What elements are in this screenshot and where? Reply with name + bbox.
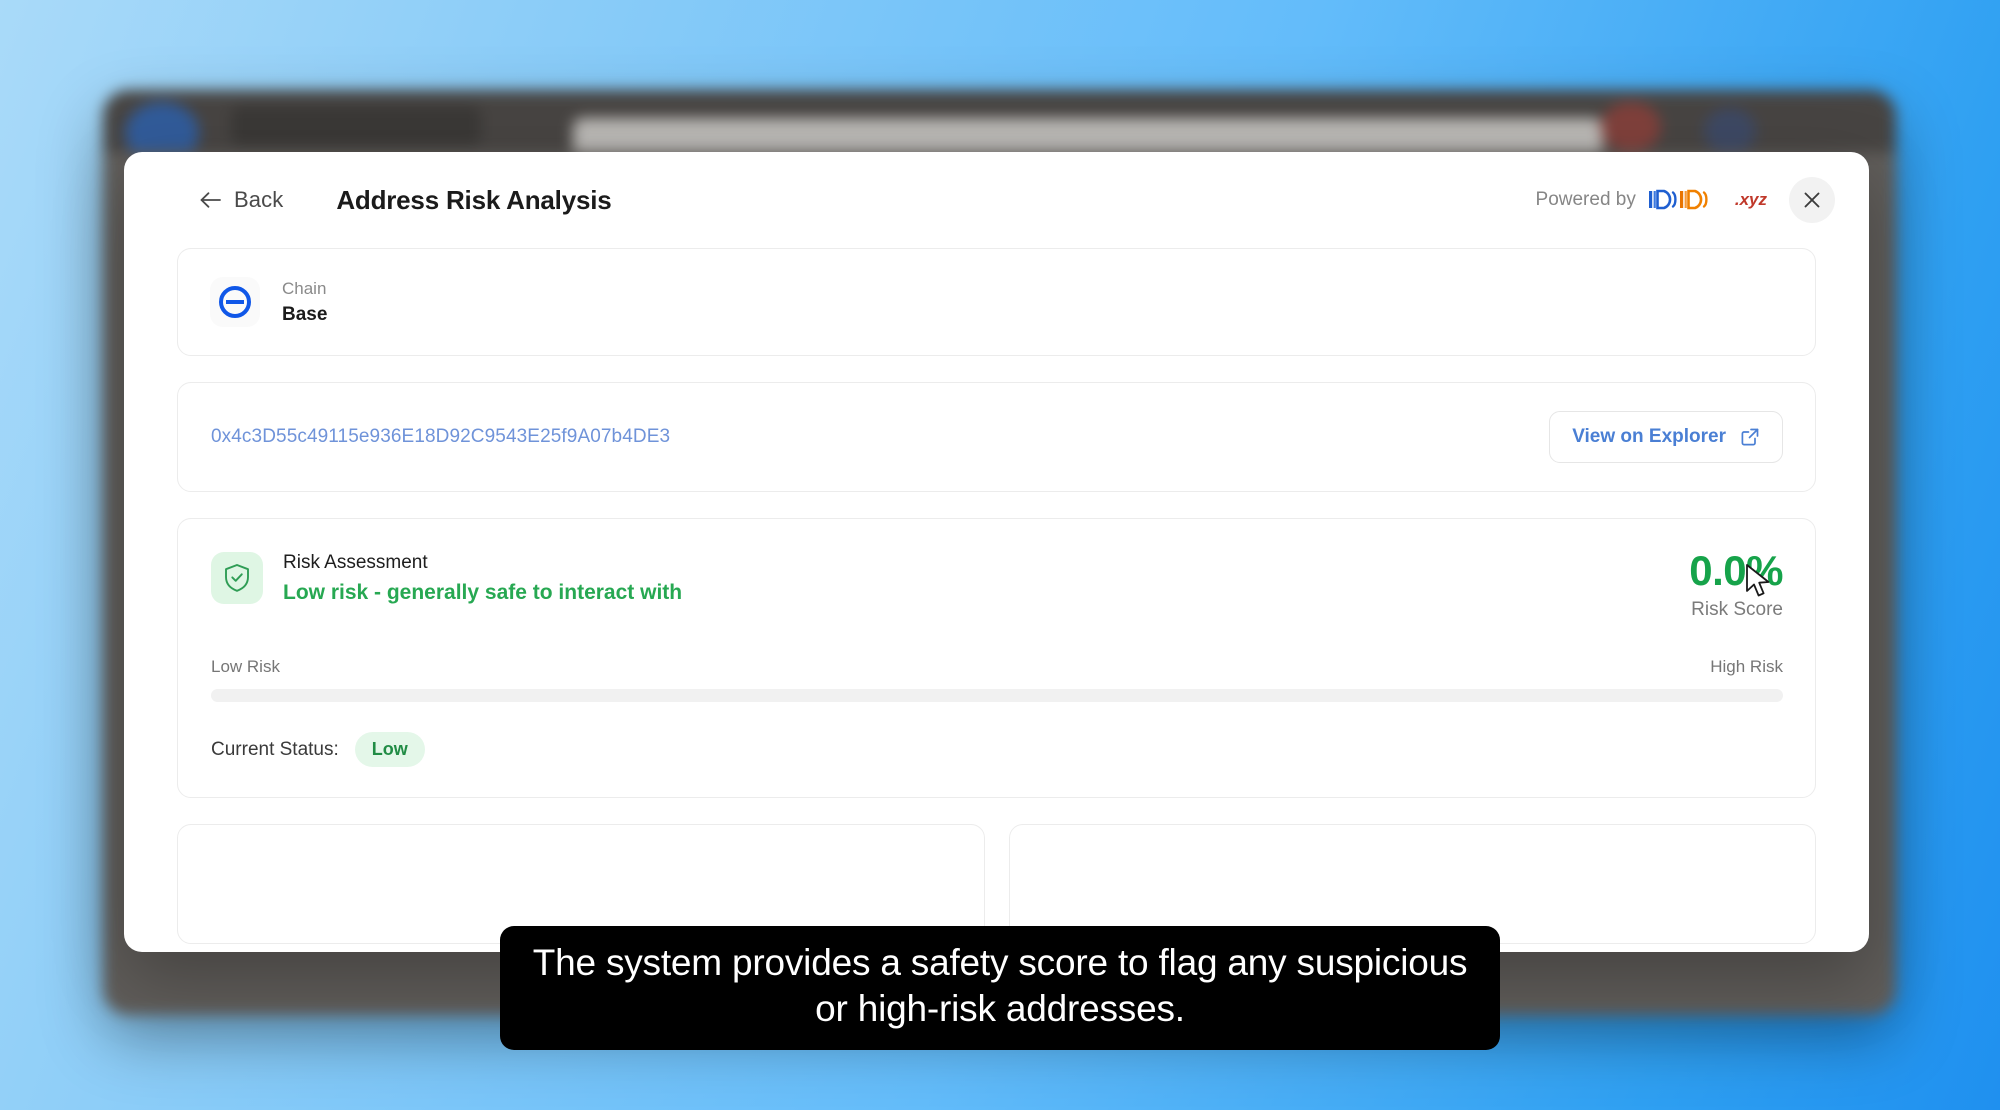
video-caption: The system provides a safety score to fl… <box>500 926 1500 1050</box>
background-notification-blob <box>1601 102 1661 152</box>
background-avatar-blob <box>1704 108 1756 154</box>
current-status-label: Current Status: <box>211 739 339 761</box>
risk-progress-bar <box>211 689 1783 702</box>
back-label: Back <box>234 187 283 213</box>
chain-info: Chain Base <box>282 277 327 327</box>
external-link-icon <box>1740 427 1760 447</box>
risk-score-value: 0.0% <box>1689 549 1783 593</box>
arrow-left-icon <box>199 190 223 210</box>
close-button[interactable] <box>1789 177 1835 223</box>
header-right-group: Powered by <box>1536 152 1869 248</box>
dd-xyz-logo <box>1648 187 1722 213</box>
wallet-address[interactable]: 0x4c3D55c49115e936E18D92C9543E25f9A07b4D… <box>211 426 670 448</box>
chain-card: Chain Base <box>177 248 1816 356</box>
risk-summary-row: Risk Assessment Low risk - generally saf… <box>211 549 1783 621</box>
risk-summary-left: Risk Assessment Low risk - generally saf… <box>211 549 682 608</box>
risk-scale-low-label: Low Risk <box>211 657 280 677</box>
risk-scale-high-label: High Risk <box>1710 657 1783 677</box>
risk-score-group: 0.0% Risk Score <box>1689 549 1783 621</box>
page-title: Address Risk Analysis <box>336 185 611 216</box>
back-button[interactable]: Back <box>199 187 283 213</box>
chain-label: Chain <box>282 277 327 302</box>
shield-check-icon <box>211 552 263 604</box>
background-nav-pill <box>231 106 481 146</box>
view-on-explorer-button[interactable]: View on Explorer <box>1549 411 1783 463</box>
address-risk-analysis-modal: Back Address Risk Analysis Powered by <box>124 152 1869 952</box>
risk-scale-labels: Low Risk High Risk <box>211 657 1783 677</box>
current-status-row: Current Status: Low <box>211 732 1783 767</box>
status-badge: Low <box>355 732 425 767</box>
powered-by-group: Powered by <box>1536 187 1767 213</box>
risk-assessment-card: Risk Assessment Low risk - generally saf… <box>177 518 1816 798</box>
risk-summary-text: Risk Assessment Low risk - generally saf… <box>283 549 682 608</box>
risk-assessment-subheading: Low risk - generally safe to interact wi… <box>283 578 682 608</box>
view-on-explorer-label: View on Explorer <box>1572 426 1726 448</box>
chain-value: Base <box>282 302 327 328</box>
address-card: 0x4c3D55c49115e936E18D92C9543E25f9A07b4D… <box>177 382 1816 492</box>
risk-assessment-heading: Risk Assessment <box>283 549 682 578</box>
close-icon <box>1802 190 1822 210</box>
risk-score-label: Risk Score <box>1689 599 1783 621</box>
modal-header: Back Address Risk Analysis Powered by <box>124 152 1869 248</box>
powered-by-label: Powered by <box>1536 189 1636 211</box>
base-chain-icon <box>210 277 260 327</box>
brand-tld-label: .xyz <box>1735 190 1767 210</box>
